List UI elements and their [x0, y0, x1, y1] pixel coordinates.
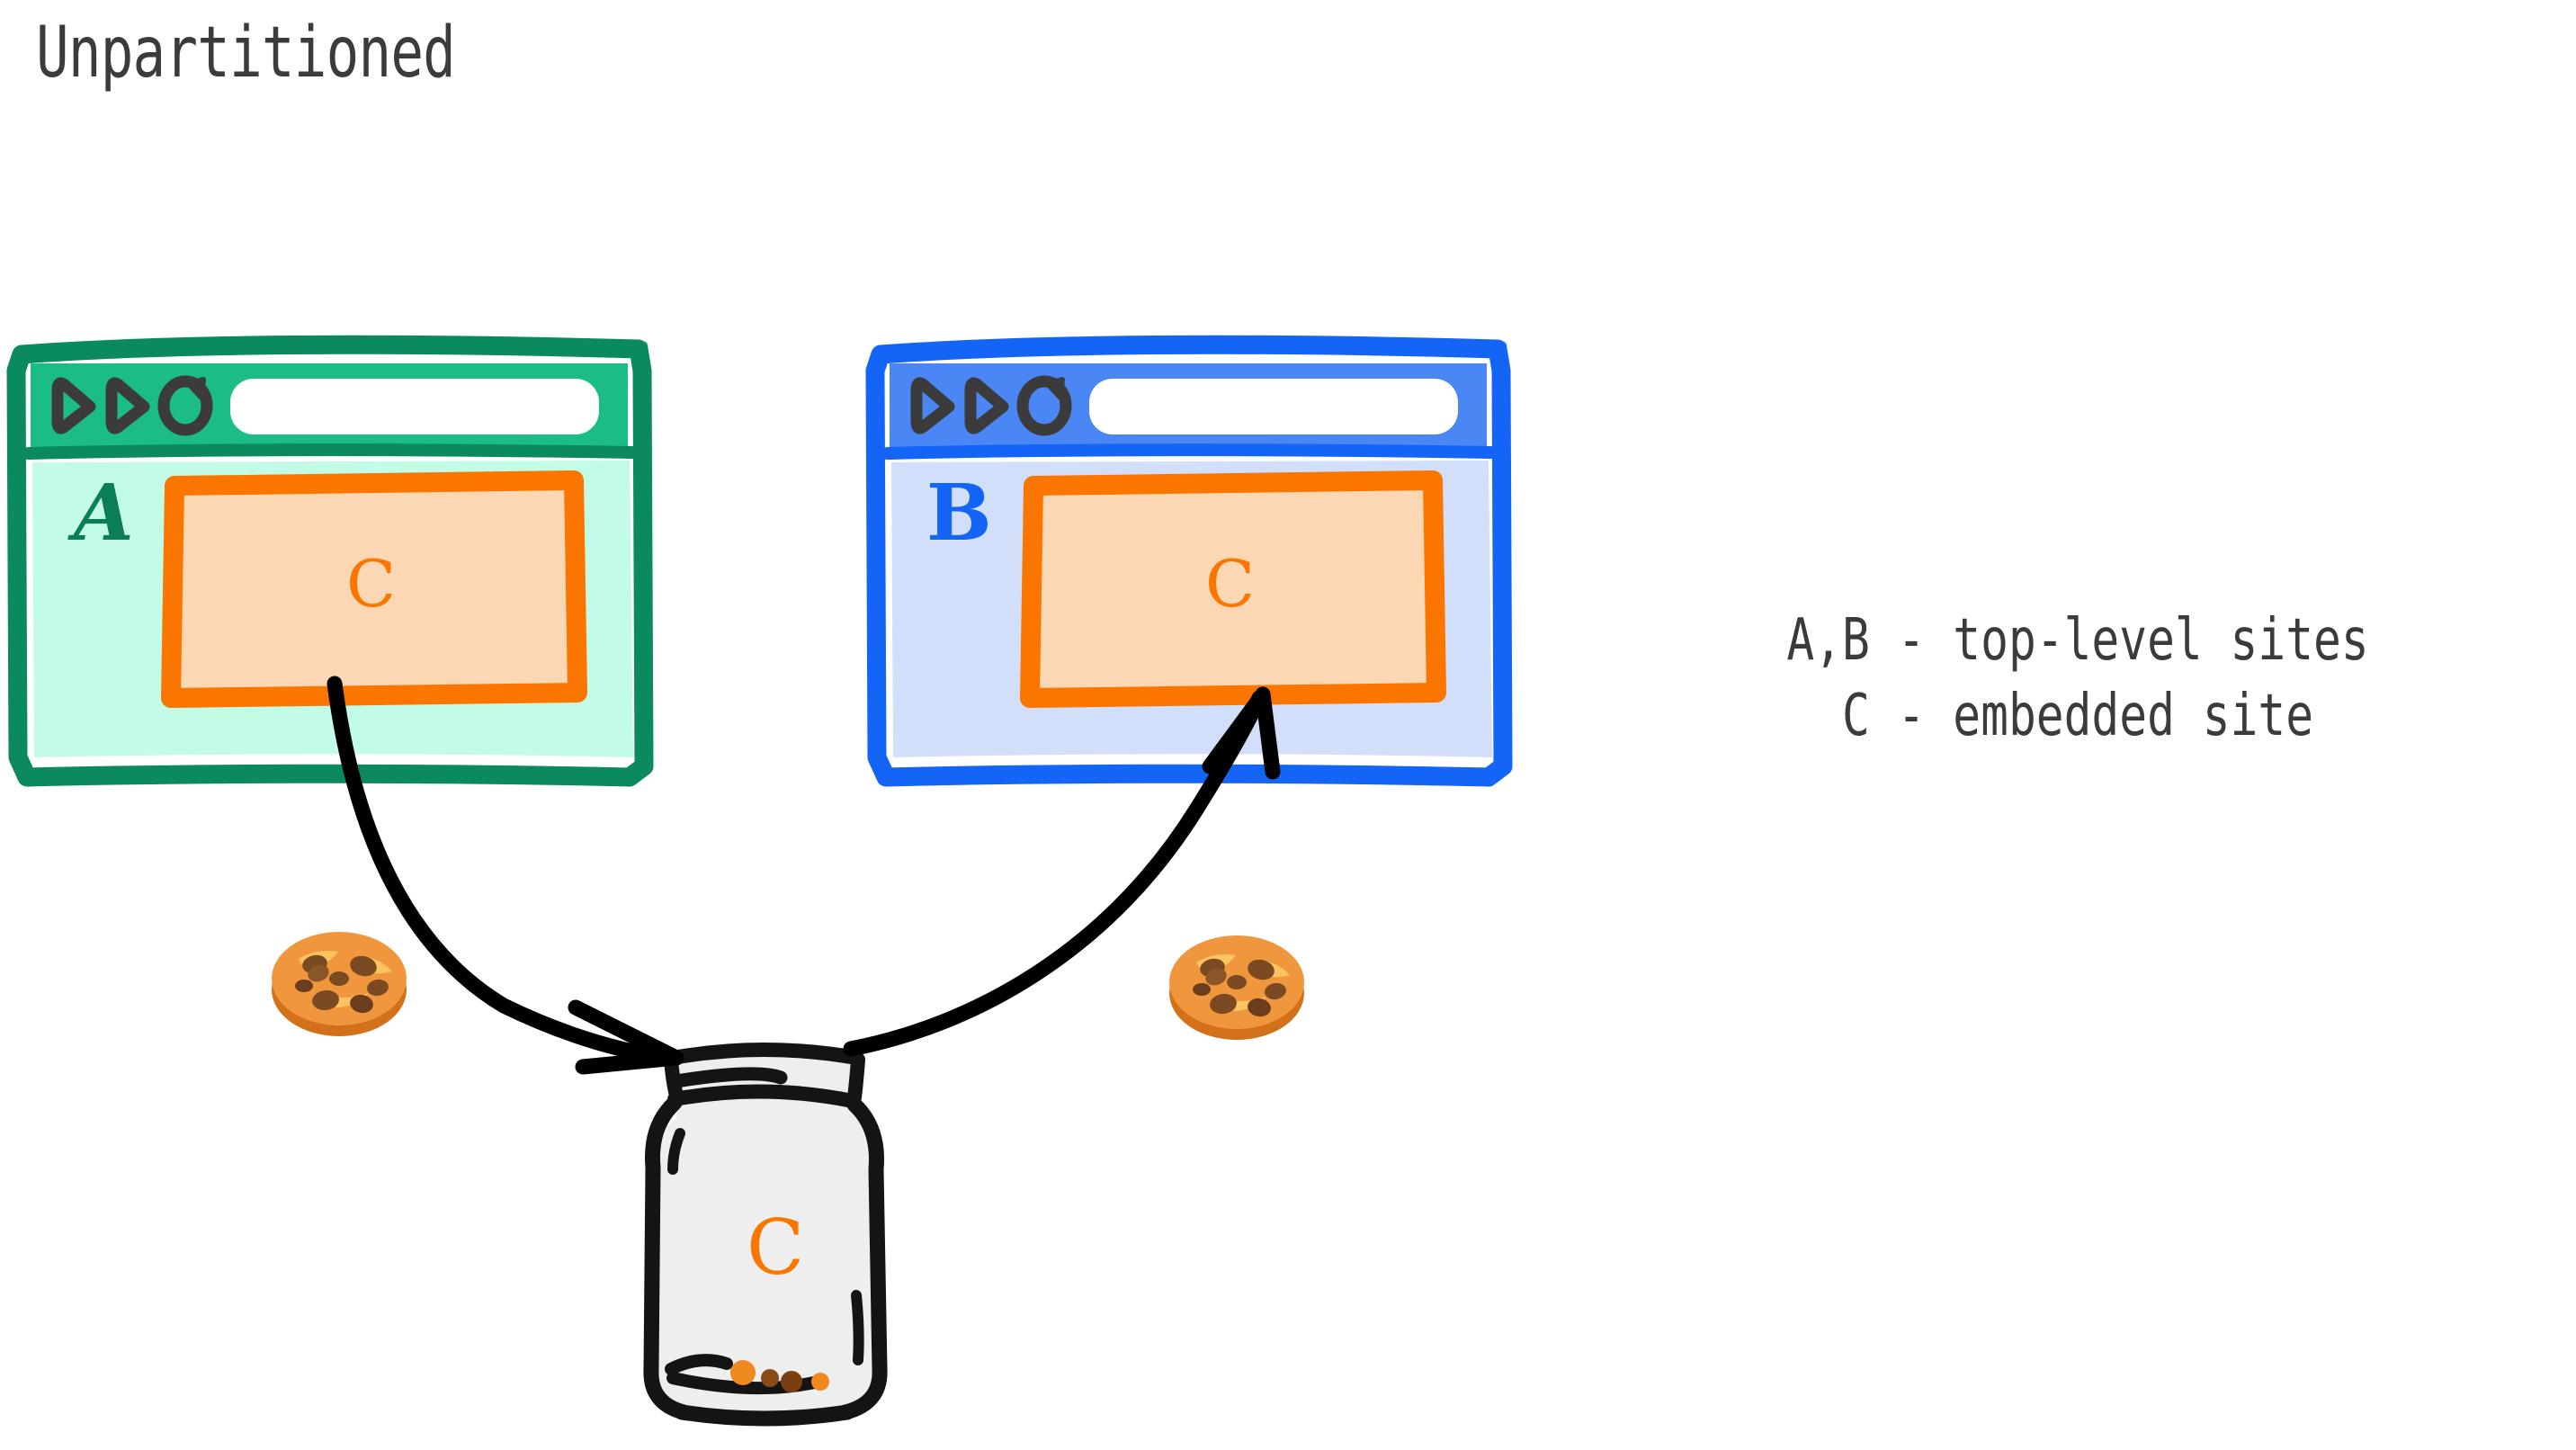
jar-ring-1	[676, 1074, 781, 1081]
jar-bottom	[682, 1412, 847, 1419]
browser-window-a	[9, 335, 657, 784]
browser-window-b	[868, 335, 1516, 784]
legend-line-top-level: A,B - top-level sites	[1696, 603, 2459, 678]
jar-highlight-right	[856, 1295, 859, 1360]
embedded-site-label-in-a: C	[346, 551, 396, 616]
jar-rim-top	[673, 1050, 856, 1058]
jar-crumb-4	[811, 1373, 829, 1391]
titlebar-separator-b	[888, 450, 1490, 453]
jar-neck-right	[854, 1060, 858, 1097]
site-letter-a: A	[74, 475, 134, 552]
jar-crumb-2	[761, 1369, 779, 1387]
cookie-icon-right	[1160, 919, 1313, 1054]
embedded-site-label-in-b: C	[1205, 551, 1255, 616]
site-letter-b: B	[926, 475, 992, 552]
titlebar-separator-a	[29, 450, 631, 453]
page-title: Unpartitioned	[36, 13, 455, 94]
cookie-icon-left	[263, 916, 416, 1051]
url-bar-a[interactable]	[230, 379, 599, 434]
jar-crumb-3	[781, 1371, 802, 1392]
legend-line-embedded: C - embedded site	[1696, 678, 2459, 754]
jar-crumb-1	[730, 1360, 756, 1385]
cookie-jar-label: C	[747, 1210, 804, 1285]
url-bar-b[interactable]	[1089, 379, 1458, 434]
legend: A,B - top-level sites C - embedded site	[1601, 603, 2554, 755]
